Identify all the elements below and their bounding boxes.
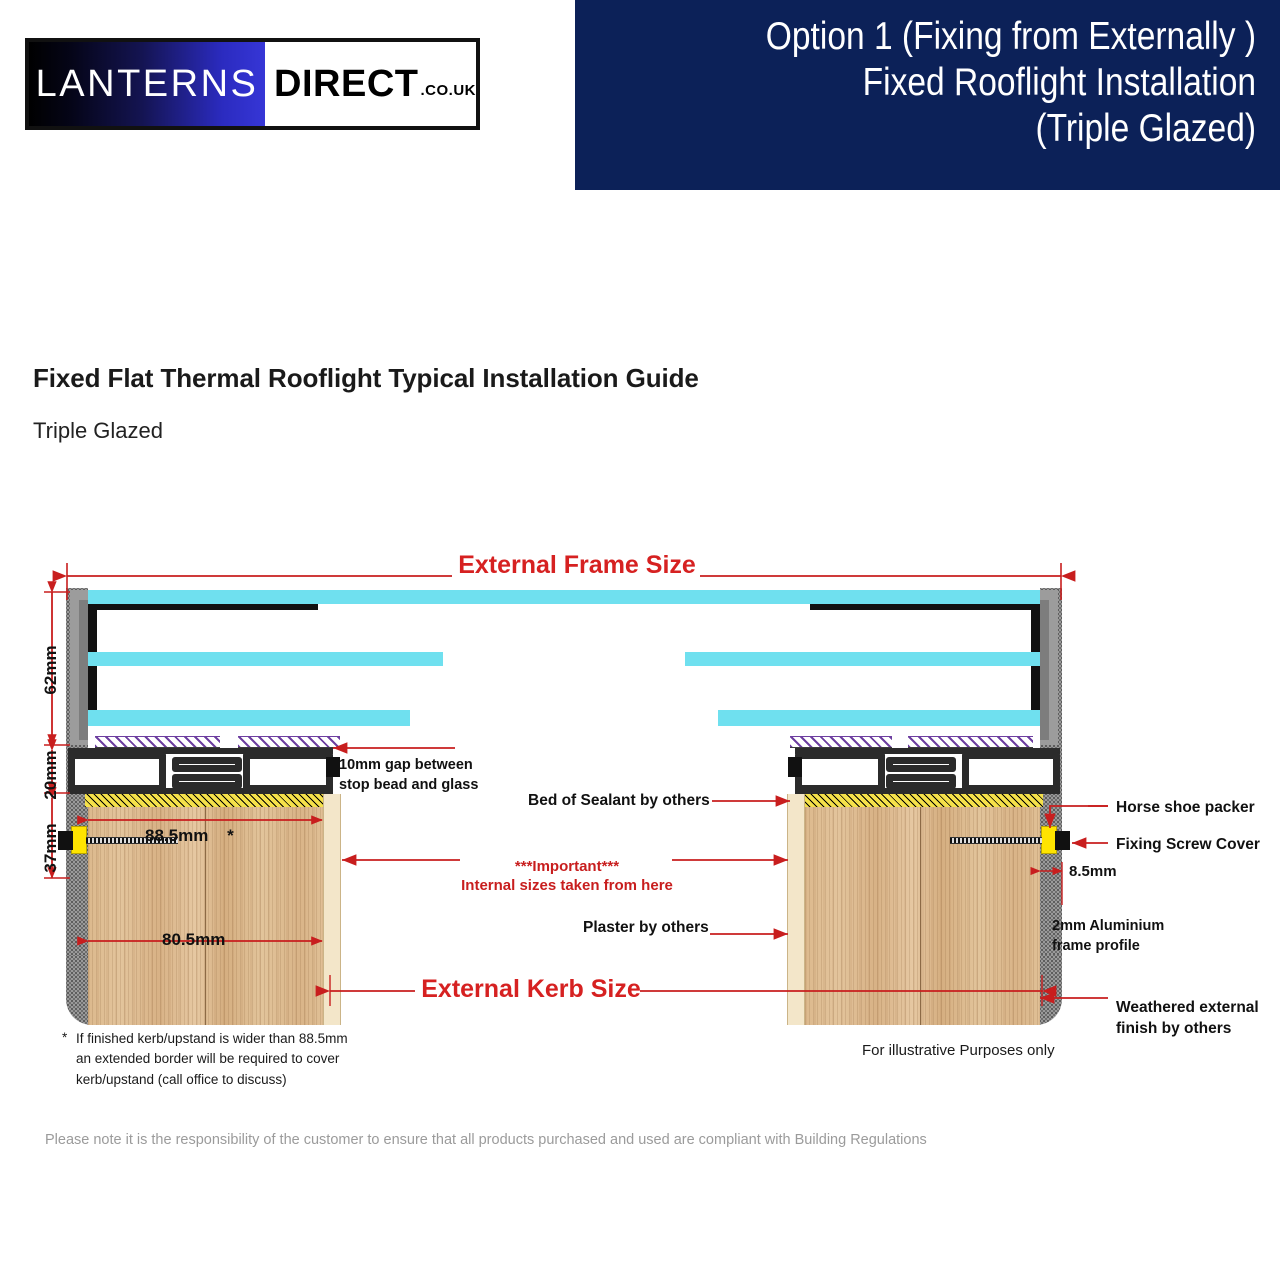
glass-under-left <box>97 726 568 736</box>
bed-of-sealant-label: Bed of Sealant by others <box>528 791 710 812</box>
cross-section-diagram: External Frame Size External Kerb Size 6… <box>0 0 1280 1280</box>
sealant-bed-right <box>795 794 1043 807</box>
plaster-left <box>323 794 341 1025</box>
horse-shoe-packer-label: Horse shoe packer <box>1116 798 1255 819</box>
frame-outer-edge-left-dark <box>79 600 88 740</box>
horse-shoe-packer-left <box>71 826 87 854</box>
glass-pane-outer-left <box>88 590 568 604</box>
glass-spacer-vert-1-left <box>88 604 97 659</box>
plaster-right <box>787 794 805 1025</box>
footnote-line-3: kerb/upstand (call office to discuss) <box>62 1070 392 1090</box>
profile-chamber-inner-left <box>243 752 333 792</box>
glass-pane-inner-left <box>88 710 410 726</box>
fixing-screw-cover-right <box>1055 831 1070 850</box>
external-kerb-size-label: External Kerb Size <box>416 975 646 1004</box>
glass-pane-middle-right <box>685 652 1040 666</box>
thermal-break-right-a <box>908 736 1033 748</box>
glass-pane-middle-left <box>88 652 443 666</box>
important-internal-sizes-callout: ***Important*** Internal sizes taken fro… <box>452 858 682 894</box>
aluminium-frame-profile-label: 2mm Aluminium frame profile <box>1052 917 1164 956</box>
thermal-break-left-a <box>95 736 220 748</box>
important-marker: ***Important*** <box>452 858 682 875</box>
profile-chamber-mid-left <box>172 757 242 772</box>
aluminium-frame-profile-line-2: frame profile <box>1052 937 1164 957</box>
footnote-marker: * <box>62 1028 67 1048</box>
plaster-by-others-label: Plaster by others <box>583 918 709 939</box>
external-frame-size-label: External Frame Size <box>452 551 702 580</box>
thermal-break-left-b <box>238 736 340 748</box>
glass-spacer-vert-1-right <box>1031 604 1040 659</box>
glass-under-right <box>560 726 1031 736</box>
glass-pane-outer-right <box>560 590 1040 604</box>
stop-bead-right <box>788 757 802 777</box>
dimension-62mm: 62mm <box>41 635 61 705</box>
stop-bead-gap-line-2: stop bead and glass <box>339 776 478 796</box>
dimension-8-5mm: 8.5mm <box>1069 862 1117 882</box>
fixing-screw-right <box>950 837 1042 844</box>
dimension-80-5mm: 80.5mm <box>162 930 225 950</box>
thermal-break-right-b <box>790 736 892 748</box>
profile-chamber-mid-right <box>886 757 956 772</box>
profile-chamber-outer-left <box>68 752 166 792</box>
weathered-finish-line-2: finish by others <box>1116 1019 1259 1040</box>
dimension-88-5mm: 88.5mm * <box>145 826 234 846</box>
frame-outer-edge-right-dark <box>1040 600 1049 740</box>
installation-guide-page: LANTERNS DIRECT .CO.UK Option 1 (Fixing … <box>0 0 1280 1280</box>
illustrative-purposes-note: For illustrative Purposes only <box>862 1042 1055 1059</box>
aluminium-frame-profile-line-1: 2mm Aluminium <box>1052 917 1164 937</box>
glass-cavity-2-left <box>97 666 568 712</box>
dimension-20mm: 20mm <box>41 740 61 810</box>
weathered-external-finish-label: Weathered external finish by others <box>1116 998 1259 1040</box>
timber-kerb-joint-right <box>920 807 921 1025</box>
stop-bead-gap-callout: 10mm gap between stop bead and glass <box>339 756 478 795</box>
weathered-finish-line-1: Weathered external <box>1116 998 1259 1019</box>
stop-bead-left <box>326 757 340 777</box>
internal-sizes-note: Internal sizes taken from here <box>452 877 682 894</box>
glass-pane-inner-right <box>718 710 1040 726</box>
dimension-37mm: 37mm <box>41 813 61 883</box>
fixing-screw-cover-label: Fixing Screw Cover <box>1116 835 1260 856</box>
profile-chamber-mid2-left <box>172 774 242 789</box>
profile-chamber-mid2-right <box>886 774 956 789</box>
footnote-line-1: If finished kerb/upstand is wider than 8… <box>76 1031 348 1046</box>
footnote-marker-inline: * <box>227 826 234 845</box>
profile-chamber-inner-right <box>795 752 885 792</box>
kerb-footnote: * If finished kerb/upstand is wider than… <box>62 1029 392 1090</box>
glass-cavity-2-right <box>560 666 1031 712</box>
sealant-bed-left <box>85 794 333 807</box>
building-regulations-disclaimer: Please note it is the responsibility of … <box>45 1132 927 1148</box>
stop-bead-gap-line-1: 10mm gap between <box>339 756 478 776</box>
profile-chamber-outer-right <box>962 752 1060 792</box>
footnote-line-2: an extended border will be required to c… <box>62 1049 392 1069</box>
